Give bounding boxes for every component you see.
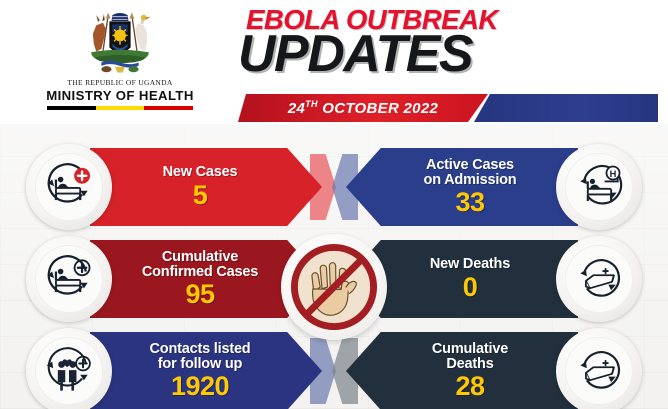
stat-card-cumulative-confirmed-cases[interactable]: Cumulative Confirmed Cases 95 xyxy=(22,236,322,322)
stat-label: New Cases xyxy=(163,165,238,180)
stat-icon-badge xyxy=(556,328,642,409)
patient-in-bed-plus-icon xyxy=(41,159,97,215)
patient-in-bed-plus-icon xyxy=(41,251,97,307)
header: THE REPUBLIC OF UGANDA MINISTRY OF HEALT… xyxy=(0,0,668,124)
stat-icon-inner xyxy=(35,245,103,313)
stat-panel-content: Cumulative Deaths 28 xyxy=(346,332,578,409)
flag-stripe-black xyxy=(47,106,96,110)
ebola-updates-infographic: THE REPUBLIC OF UGANDA MINISTRY OF HEALT… xyxy=(0,0,668,409)
stat-panel-content: New Cases 5 xyxy=(90,148,322,226)
stat-card-new-cases[interactable]: New Cases 5 xyxy=(22,144,322,230)
stat-card-active-cases-on-admission[interactable]: Active Cases on Admission 33 xyxy=(346,144,646,230)
stat-card-new-deaths[interactable]: New Deaths 0 xyxy=(346,236,646,322)
republic-of-uganda-label: THE REPUBLIC OF UGANDA xyxy=(40,78,200,87)
stat-panel: Active Cases on Admission 33 xyxy=(346,148,578,226)
date-label: 24TH OCTOBER 2022 xyxy=(288,99,438,117)
stat-value: 0 xyxy=(463,274,478,301)
ministry-logo-block: THE REPUBLIC OF UGANDA MINISTRY OF HEALT… xyxy=(40,10,200,110)
flag-stripe-yellow xyxy=(96,106,145,110)
date-day: 24 xyxy=(288,100,305,117)
title-updates: UPDATES xyxy=(228,31,658,79)
hospital-bed-patient-icon: H xyxy=(571,159,627,215)
stat-icon-inner xyxy=(35,153,103,221)
stat-value: 33 xyxy=(455,189,484,216)
date-banner-red-ribbon: 24TH OCTOBER 2022 xyxy=(238,94,488,122)
stat-icon-badge xyxy=(556,236,642,322)
stat-value: 95 xyxy=(185,281,214,308)
stat-icon-inner xyxy=(565,245,633,313)
stat-icon-badge: H xyxy=(556,144,642,230)
stat-icon-inner xyxy=(565,337,633,405)
stat-value: 28 xyxy=(455,373,484,400)
stat-card-cumulative-deaths[interactable]: Cumulative Deaths 28 xyxy=(346,328,646,409)
ministry-of-health-label: MINISTRY OF HEALTH xyxy=(40,88,200,103)
stat-panel-content: Active Cases on Admission 33 xyxy=(346,148,578,226)
stat-icon-inner xyxy=(35,337,103,405)
two-people-heart-plus-icon xyxy=(41,343,97,399)
stat-panel-content: Contacts listed for follow up 1920 xyxy=(90,332,322,409)
uganda-coat-of-arms-icon xyxy=(77,10,163,76)
date-month-year: OCTOBER 2022 xyxy=(318,100,438,117)
stat-icon-badge xyxy=(26,144,112,230)
svg-text:H: H xyxy=(610,169,617,179)
stat-label: Active Cases on Admission xyxy=(424,158,517,188)
coffin-icon xyxy=(571,251,627,307)
date-suffix: TH xyxy=(305,99,318,109)
stat-icon-badge xyxy=(26,236,112,322)
stat-icon-badge xyxy=(26,328,112,409)
stat-label: New Deaths xyxy=(430,257,510,272)
no-touch-hand-icon xyxy=(288,241,380,333)
uganda-flag-bar xyxy=(47,106,193,110)
stat-panel: Cumulative Deaths 28 xyxy=(346,332,578,409)
date-banner-navy-tail xyxy=(474,94,658,122)
stat-label: Cumulative Deaths xyxy=(432,342,508,372)
stat-value: 5 xyxy=(193,182,208,209)
no-touch-hand-badge xyxy=(281,234,387,340)
stat-panel: New Cases 5 xyxy=(90,148,322,226)
stat-icon-inner: H xyxy=(565,153,633,221)
date-banner: 24TH OCTOBER 2022 xyxy=(228,94,658,122)
stat-value: 1920 xyxy=(171,373,229,400)
stat-card-contacts-listed-for-follow-up[interactable]: Contacts listed for follow up 1920 xyxy=(22,328,322,409)
stat-label: Contacts listed for follow up xyxy=(150,342,251,372)
title-group: EBOLA OUTBREAK UPDATES 24TH OCTOBER 2022 xyxy=(228,6,658,118)
stat-panel: Contacts listed for follow up 1920 xyxy=(90,332,322,409)
stat-label: Cumulative Confirmed Cases xyxy=(142,250,258,280)
coffin-icon xyxy=(571,343,627,399)
flag-stripe-red xyxy=(144,106,193,110)
